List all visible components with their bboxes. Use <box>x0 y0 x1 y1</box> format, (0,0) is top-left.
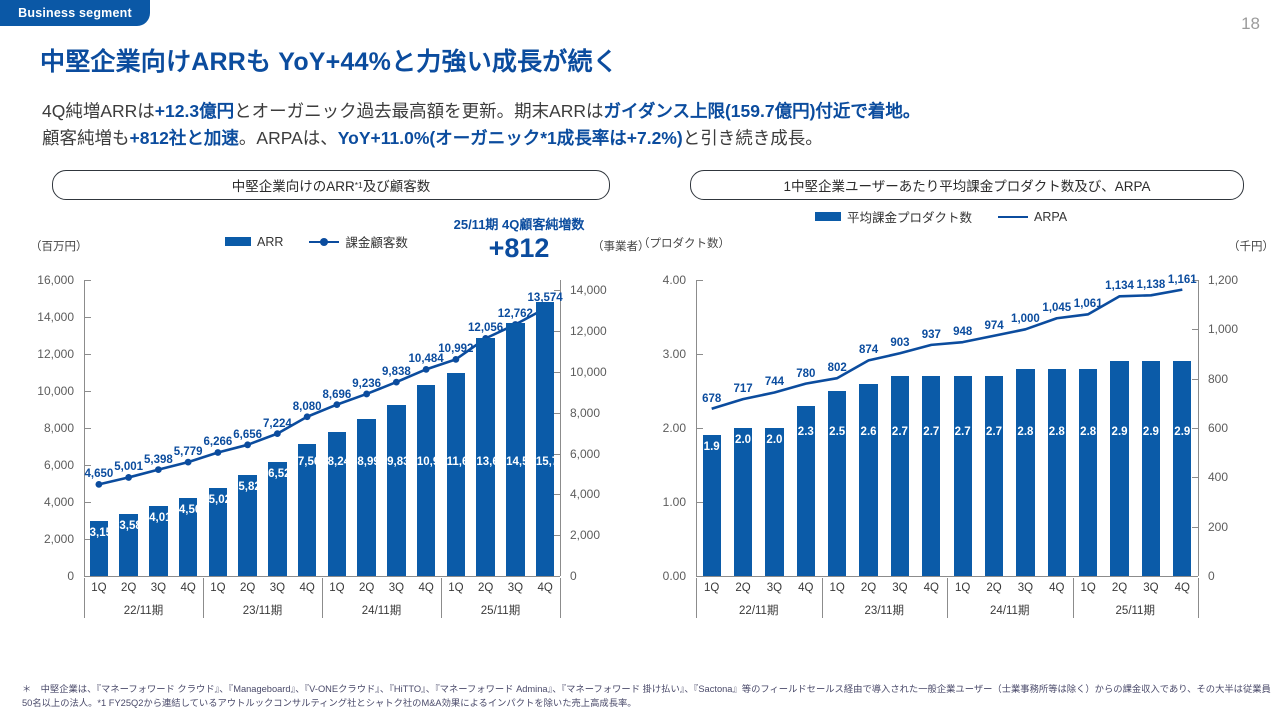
lead-2c: 。ARPAは、 <box>239 128 338 148</box>
line-value-label: 1,134 <box>1105 280 1134 292</box>
line-value-label: 10,992 <box>438 343 473 355</box>
y-tick-mark <box>697 280 703 281</box>
page-title: 中堅企業向けARRも YoY+44%と力強い成長が続く <box>40 42 618 78</box>
y2-tick-mark <box>554 413 560 414</box>
y2-tick-label: 2,000 <box>570 528 620 542</box>
bar-value-label: 8,246 <box>328 456 346 468</box>
y2-tick-label: 0 <box>570 569 620 583</box>
line-value-label: 744 <box>765 376 784 388</box>
line-marker-dot <box>244 441 251 448</box>
x-tick-label: 3Q <box>508 582 523 594</box>
x-tick-label: 3Q <box>892 582 907 594</box>
bar <box>1142 361 1160 576</box>
lead-1a: 4Q純増ARRは <box>42 101 155 121</box>
line-marker-dot <box>125 474 132 481</box>
bar-value-label: 5,027 <box>209 494 227 506</box>
footnote: ＊ 中堅企業は、『マネーフォワード クラウド』、『Manageboard』、『V… <box>22 682 1262 711</box>
bar <box>891 376 909 576</box>
x-tick-label: 3Q <box>767 582 782 594</box>
bar-value-label: 2.8 <box>1079 426 1097 438</box>
bar <box>1173 361 1191 576</box>
x-tick-label: 4Q <box>1175 582 1190 594</box>
bar <box>1079 369 1097 576</box>
y-tick-mark <box>697 576 703 577</box>
line-value-label: 7,224 <box>263 418 292 430</box>
x-tick-label: 1Q <box>955 582 970 594</box>
panel-header-right: 1中堅企業ユーザーあたり平均課金プロダクト数及び、ARPA <box>690 170 1244 200</box>
x-group-separator <box>560 578 561 618</box>
line-marker-dot <box>155 466 162 473</box>
bar-value-label: 2.8 <box>1048 426 1066 438</box>
bar-value-label: 4,018 <box>149 512 167 524</box>
slide-root: Business segment 18 中堅企業向けARRも YoY+44%と力… <box>0 0 1280 720</box>
x-tick-label: 1Q <box>448 582 463 594</box>
line-marker-dot <box>185 459 192 466</box>
y-tick-label: 0 <box>22 569 74 583</box>
lead-1b: +12.3億円 <box>155 101 234 121</box>
line-value-label: 903 <box>890 337 909 349</box>
bar <box>985 376 1003 576</box>
x-tick-label: 2Q <box>359 582 374 594</box>
right-axis-line <box>1198 280 1199 576</box>
y-tick-mark <box>85 280 91 281</box>
y2-tick-label: 4,000 <box>570 487 620 501</box>
line-value-label: 9,236 <box>352 378 381 390</box>
x-tick-label: 4Q <box>1049 582 1064 594</box>
bar-value-label: 2.7 <box>985 426 1003 438</box>
y2-tick-label: 14,000 <box>570 283 620 297</box>
bar <box>1110 361 1128 576</box>
x-tick-label: 2Q <box>478 582 493 594</box>
bar <box>765 428 783 576</box>
bar <box>536 302 554 576</box>
y2-tick-mark <box>1192 428 1198 429</box>
x-tick-label: 1Q <box>830 582 845 594</box>
lead-1c: とオーガニック過去最高額を更新。期末ARRは <box>234 101 603 121</box>
line-value-label: 5,001 <box>114 461 143 473</box>
lead-1d: ガイダンス上限(159.7億円)付近で着地。 <box>604 101 921 121</box>
bar-value-label: 5,821 <box>238 481 256 493</box>
y-tick-label: 1.00 <box>640 495 686 509</box>
bar-value-label: 2.0 <box>734 434 752 446</box>
line-value-label: 1,000 <box>1011 313 1040 325</box>
right-axis-line <box>560 280 561 576</box>
x-tick-label: 2Q <box>986 582 1001 594</box>
y-tick-mark <box>85 428 91 429</box>
y2-tick-mark <box>554 331 560 332</box>
x-tick-label: 3Q <box>1143 582 1158 594</box>
line-marker-dot <box>95 481 102 488</box>
x-fiscal-year-label: 24/11期 <box>990 602 1029 618</box>
bar-value-label: 14,523 <box>506 456 524 468</box>
x-tick-label: 4Q <box>418 582 433 594</box>
line-value-label: 9,838 <box>382 366 411 378</box>
line-value-label: 13,574 <box>528 292 563 304</box>
bar-value-label: 2.9 <box>1110 426 1128 438</box>
line-marker-dot <box>393 379 400 386</box>
left-chart-y-unit: （百万円） <box>30 238 88 254</box>
x-group-separator <box>822 578 823 618</box>
bar-value-label: 13,673 <box>476 456 494 468</box>
legend-label-customers: 課金顧客数 <box>345 232 408 251</box>
panel-left-title-a: 中堅企業向けのARR <box>232 175 355 195</box>
y-tick-mark <box>85 354 91 355</box>
bar-value-label: 2.8 <box>1016 426 1034 438</box>
y-tick-mark <box>85 317 91 318</box>
y-tick-label: 3.00 <box>640 347 686 361</box>
x-tick-label: 4Q <box>798 582 813 594</box>
bar-value-label: 2.7 <box>922 426 940 438</box>
bar <box>1048 369 1066 576</box>
x-group-separator <box>322 578 323 618</box>
y-tick-label: 16,000 <box>22 273 74 287</box>
x-group-separator <box>84 578 85 618</box>
right-chart-y2-unit: （千円） <box>1228 238 1274 254</box>
line-value-label: 6,266 <box>203 436 232 448</box>
y2-tick-label: 6,000 <box>570 447 620 461</box>
x-group-separator <box>947 578 948 618</box>
y2-tick-mark <box>1192 329 1198 330</box>
y2-tick-label: 1,000 <box>1208 322 1262 336</box>
bar <box>828 391 846 576</box>
y-tick-label: 2,000 <box>22 532 74 546</box>
y-tick-mark <box>85 465 91 466</box>
line-value-label: 717 <box>733 383 752 395</box>
line-marker-dot <box>452 356 459 363</box>
lead-line-1: 4Q純増ARRは+12.3億円とオーガニック過去最高額を更新。期末ARRはガイダ… <box>42 98 920 125</box>
x-tick-label: 1Q <box>1081 582 1096 594</box>
line-value-label: 4,650 <box>84 468 113 480</box>
y-tick-label: 14,000 <box>22 310 74 324</box>
x-tick-label: 1Q <box>329 582 344 594</box>
line-value-label: 8,080 <box>293 401 322 413</box>
y2-tick-mark <box>1192 527 1198 528</box>
lead-2b: +812社と加速 <box>130 128 239 148</box>
bar-value-label: 10,959 <box>417 456 435 468</box>
line-marker-swatch-icon <box>309 237 339 247</box>
x-fiscal-year-label: 22/11期 <box>739 602 778 618</box>
y-tick-label: 8,000 <box>22 421 74 435</box>
y-tick-label: 0.00 <box>640 569 686 583</box>
x-group-separator <box>1073 578 1074 618</box>
y2-tick-mark <box>1192 379 1198 380</box>
bar-value-label: 2.7 <box>954 426 972 438</box>
line-value-label: 12,762 <box>498 308 533 320</box>
callout-value: +812 <box>424 234 614 262</box>
y-tick-label: 12,000 <box>22 347 74 361</box>
bar-value-label: 2.3 <box>797 426 815 438</box>
line-value-label: 6,656 <box>233 429 262 441</box>
line-marker-dot <box>333 401 340 408</box>
y2-tick-mark <box>554 494 560 495</box>
x-group-separator <box>441 578 442 618</box>
bar-value-label: 15,753 <box>536 456 554 468</box>
bar <box>954 376 972 576</box>
legend-item-customers: 課金顧客数 <box>309 232 408 251</box>
x-tick-label: 2Q <box>121 582 136 594</box>
bar <box>387 405 405 576</box>
x-tick-label: 2Q <box>861 582 876 594</box>
bar-value-label: 8,999 <box>357 456 375 468</box>
y2-tick-label: 600 <box>1208 421 1262 435</box>
y2-tick-label: 1,200 <box>1208 273 1262 287</box>
segment-badge-label: Business segment <box>18 6 132 20</box>
line-value-label: 1,138 <box>1137 279 1166 291</box>
bar <box>734 428 752 576</box>
bar-value-label: 2.6 <box>859 426 877 438</box>
bar <box>506 323 524 576</box>
footnote-line-2: 50名以上の法人。*1 FY25Q2から連結しているアウトルックコンサルティング… <box>22 696 1262 710</box>
chart-arr-customers: 02,0004,0006,0008,00010,00012,00014,0001… <box>22 262 622 620</box>
lead-2a: 顧客純増も <box>42 128 130 148</box>
x-tick-label: 4Q <box>537 582 552 594</box>
y2-tick-label: 10,000 <box>570 365 620 379</box>
y-tick-label: 6,000 <box>22 458 74 472</box>
y-tick-mark <box>85 391 91 392</box>
bar-value-label: 1.9 <box>703 441 721 453</box>
bar-value-label: 11,659 <box>447 456 465 468</box>
bar <box>859 384 877 576</box>
y-tick-mark <box>85 502 91 503</box>
line-marker-dot <box>423 366 430 373</box>
y2-tick-mark <box>554 454 560 455</box>
line-value-label: 1,161 <box>1168 274 1197 286</box>
legend-label-arr: ARR <box>257 235 283 249</box>
segment-badge: Business segment <box>0 0 150 26</box>
x-fiscal-year-label: 22/11期 <box>124 602 163 618</box>
line-value-label: 5,398 <box>144 454 173 466</box>
bar-swatch-icon <box>225 237 251 246</box>
line-value-label: 8,696 <box>322 389 351 401</box>
line-value-label: 802 <box>828 362 847 374</box>
line-swatch-icon <box>998 212 1028 222</box>
line-value-label: 678 <box>702 393 721 405</box>
bar-value-label: 9,839 <box>387 456 405 468</box>
callout-net-adds: 25/11期 4Q顧客純増数 +812 <box>424 214 614 262</box>
y2-tick-label: 8,000 <box>570 406 620 420</box>
y2-tick-mark <box>1192 576 1198 577</box>
chart-products-arpa: 0.001.002.003.004.0002004006008001,0001,… <box>640 262 1264 620</box>
y-tick-label: 2.00 <box>640 421 686 435</box>
x-tick-label: 2Q <box>735 582 750 594</box>
bar-value-label: 4,508 <box>179 504 197 516</box>
x-tick-label: 4Q <box>180 582 195 594</box>
y2-tick-mark <box>554 290 560 291</box>
bar <box>1016 369 1034 576</box>
x-tick-label: 2Q <box>240 582 255 594</box>
x-tick-label: 1Q <box>91 582 106 594</box>
legend-label-arpa: ARPA <box>1034 210 1067 224</box>
bar-value-label: 2.0 <box>765 434 783 446</box>
bar-value-label: 7,569 <box>298 456 316 468</box>
line-value-label: 1,045 <box>1042 302 1071 314</box>
x-tick-label: 3Q <box>270 582 285 594</box>
y-tick-label: 10,000 <box>22 384 74 398</box>
y2-tick-label: 400 <box>1208 470 1262 484</box>
y2-tick-mark <box>554 576 560 577</box>
panel-left-title-sup: *1 <box>355 180 363 190</box>
y2-tick-label: 800 <box>1208 372 1262 386</box>
footnote-line-1: ＊ 中堅企業は、『マネーフォワード クラウド』、『Manageboard』、『V… <box>22 682 1262 696</box>
bar-value-label: 3,152 <box>90 527 108 539</box>
lead-paragraph: 4Q純増ARRは+12.3億円とオーガニック過去最高額を更新。期末ARRはガイダ… <box>42 98 920 151</box>
line-value-label: 874 <box>859 344 878 356</box>
bar <box>922 376 940 576</box>
x-tick-label: 2Q <box>1112 582 1127 594</box>
x-tick-label: 1Q <box>704 582 719 594</box>
legend-item-arr: ARR <box>225 235 283 249</box>
bar-swatch-icon <box>815 212 841 221</box>
line-value-label: 12,056 <box>468 322 503 334</box>
legend-right: 平均課金プロダクト数 ARPA <box>815 207 1067 226</box>
legend-label-products: 平均課金プロダクト数 <box>847 207 972 226</box>
x-axis-line <box>84 576 560 577</box>
line-marker-dot <box>363 391 370 398</box>
y2-tick-mark <box>1192 477 1198 478</box>
y-tick-mark <box>85 576 91 577</box>
x-tick-label: 4Q <box>299 582 314 594</box>
x-fiscal-year-label: 25/11期 <box>481 602 520 618</box>
bar-value-label: 3,584 <box>119 520 137 532</box>
bar-value-label: 6,520 <box>268 468 286 480</box>
x-fiscal-year-label: 25/11期 <box>1116 602 1155 618</box>
line-value-label: 1,061 <box>1074 298 1103 310</box>
line-value-label: 974 <box>984 320 1003 332</box>
y-tick-mark <box>697 354 703 355</box>
y-tick-label: 4,000 <box>22 495 74 509</box>
x-tick-label: 3Q <box>151 582 166 594</box>
line-marker-dot <box>214 449 221 456</box>
lead-line-2: 顧客純増も+812社と加速。ARPAは、YoY+11.0%(オーガニック*1成長… <box>42 125 920 152</box>
bar <box>703 435 721 576</box>
line-marker-dot <box>274 430 281 437</box>
bar-value-label: 2.9 <box>1173 426 1191 438</box>
line-marker-dot <box>304 413 311 420</box>
panel-header-left: 中堅企業向けのARR*1及び顧客数 <box>52 170 610 200</box>
legend-item-arpa: ARPA <box>998 210 1067 224</box>
x-group-separator <box>1198 578 1199 618</box>
lead-2e: と引き続き成長。 <box>683 128 823 148</box>
bar <box>357 419 375 576</box>
x-group-separator <box>696 578 697 618</box>
line-value-label: 780 <box>796 368 815 380</box>
x-group-separator <box>203 578 204 618</box>
y-tick-label: 4.00 <box>640 273 686 287</box>
x-fiscal-year-label: 23/11期 <box>865 602 904 618</box>
x-tick-label: 4Q <box>924 582 939 594</box>
x-fiscal-year-label: 23/11期 <box>243 602 282 618</box>
x-axis-line <box>696 576 1198 577</box>
lead-2d: YoY+11.0%(オーガニック*1成長率は+7.2%) <box>338 128 683 148</box>
x-tick-label: 3Q <box>1018 582 1033 594</box>
panel-right-title: 1中堅企業ユーザーあたり平均課金プロダクト数及び、ARPA <box>784 175 1151 195</box>
y-tick-mark <box>697 428 703 429</box>
bar-value-label: 2.7 <box>891 426 909 438</box>
y2-tick-mark <box>554 535 560 536</box>
line-value-label: 948 <box>953 326 972 338</box>
y2-tick-label: 12,000 <box>570 324 620 338</box>
y2-tick-mark <box>554 372 560 373</box>
legend-left: ARR 課金顧客数 <box>225 232 408 251</box>
legend-item-products: 平均課金プロダクト数 <box>815 207 972 226</box>
line-value-label: 937 <box>922 329 941 341</box>
bar <box>417 385 435 576</box>
y2-tick-label: 0 <box>1208 569 1262 583</box>
page-number: 18 <box>1241 14 1260 34</box>
bar-value-label: 2.5 <box>828 426 846 438</box>
bar <box>447 373 465 576</box>
bar <box>328 432 346 576</box>
x-tick-label: 1Q <box>210 582 225 594</box>
right-chart-y-unit: （プロダクト数） <box>638 235 730 251</box>
x-fiscal-year-label: 24/11期 <box>362 602 401 618</box>
x-tick-label: 3Q <box>389 582 404 594</box>
line-value-label: 5,779 <box>174 446 203 458</box>
callout-label: 25/11期 4Q顧客純増数 <box>424 214 614 233</box>
panel-left-title-b: 及び顧客数 <box>363 175 431 195</box>
y2-tick-label: 200 <box>1208 520 1262 534</box>
bar-value-label: 2.9 <box>1142 426 1160 438</box>
